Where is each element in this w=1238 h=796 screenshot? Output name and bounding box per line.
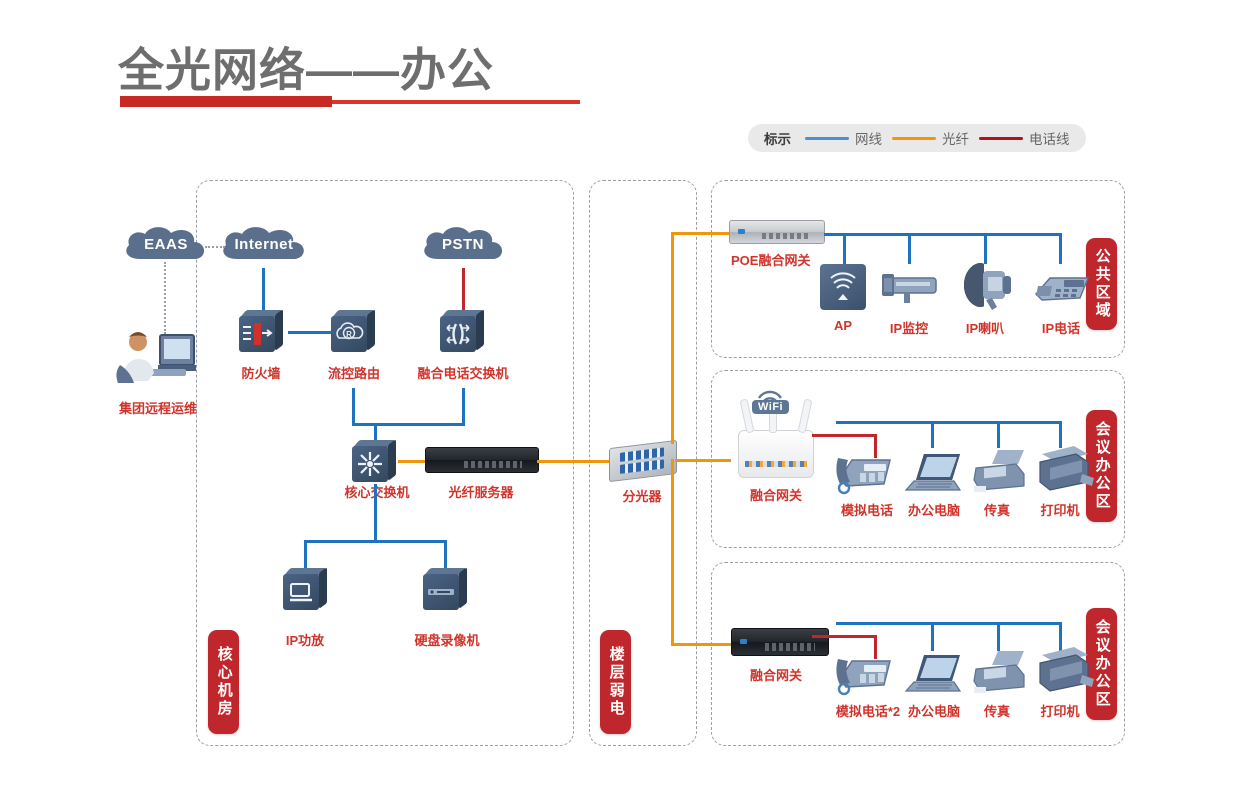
node-printer-1: [1030, 440, 1096, 496]
diagram-canvas: 全光网络——办公 标示 网线 光纤 电话线 核心机房 楼层弱电 公共区域 会议办…: [0, 0, 1238, 796]
legend-label-telephone: 电话线: [1029, 128, 1070, 148]
legend-item-fiber: 光纤: [892, 128, 969, 148]
node-nvr-label: 硬盘录像机: [404, 630, 490, 649]
link-router-bus: [352, 388, 355, 424]
node-fax-1: [968, 446, 1030, 496]
dvr-icon: [423, 574, 459, 610]
router-port-leds-icon: [745, 461, 807, 467]
node-ip-phone: [1030, 268, 1094, 310]
node-internet: Internet: [216, 225, 312, 267]
link-splitter-poe-gateway: [671, 232, 731, 235]
link-bus-ip-amp: [304, 540, 307, 570]
node-ip-camera: [878, 266, 942, 310]
link-poe-trunk: [824, 233, 1062, 236]
node-tel-switch-label: 融合电话交换机: [408, 363, 518, 382]
node-pc-1: [902, 448, 966, 496]
ip-speaker-icon: [956, 258, 1018, 312]
zone-badge-core-room: 核心机房: [208, 630, 239, 734]
switch-icon: [440, 316, 476, 352]
analog-phone-icon: [830, 649, 896, 697]
person-at-computer-icon: [112, 325, 202, 387]
switch-glyph-icon: [443, 321, 473, 347]
firewall-icon: [239, 316, 275, 352]
rack-ports-icon: [762, 233, 811, 239]
node-nvr: [423, 568, 467, 612]
link-eaas-remote-ops: [164, 262, 166, 334]
link-gw1-trunk: [836, 421, 1062, 424]
node-poe-gateway: [729, 220, 825, 244]
link-lower-bus: [304, 540, 446, 543]
node-analog-phone-2: [830, 649, 896, 697]
node-analog-phone-1-label: 模拟电话: [828, 500, 906, 519]
node-pstn-label: PSTN: [418, 225, 508, 267]
link-coreswitch-lower-bus: [374, 484, 377, 542]
wifi-waves-icon: [755, 386, 785, 402]
cube-side-face: [367, 309, 375, 351]
link-firewall-router: [288, 331, 332, 334]
svg-text:R: R: [346, 330, 352, 339]
link-poe-ap: [843, 233, 846, 264]
cube-side-face: [476, 309, 484, 351]
node-gateway-1: [738, 430, 814, 478]
node-ip-amplifier: [283, 568, 327, 612]
legend-swatch-network-icon: [805, 137, 849, 140]
firewall-glyph-icon: [241, 321, 273, 347]
laptop-icon: [902, 448, 966, 496]
legend-item-telephone: 电话线: [979, 128, 1070, 148]
legend-swatch-telephone-icon: [979, 137, 1023, 140]
node-gateway-1-label: 融合网关: [736, 485, 816, 504]
node-eaas-label: EAAS: [120, 225, 212, 267]
link-gw1-pc: [931, 421, 934, 448]
legend-title: 标示: [764, 128, 791, 148]
cube-side-face: [388, 439, 396, 481]
node-flow-router-label: 流控路由: [318, 363, 390, 382]
node-poe-gateway-label: POE融合网关: [731, 250, 827, 269]
link-gw1-phone-h: [812, 434, 876, 437]
ip-amplifier-icon: [283, 574, 319, 610]
node-gateway-2: [731, 628, 829, 656]
node-remote-ops-label: 集团远程运维: [105, 398, 211, 417]
node-printer-1-label: 打印机: [1028, 500, 1092, 519]
node-core-switch-label: 核心交换机: [335, 482, 419, 501]
node-ip-phone-label: IP电话: [1028, 318, 1094, 337]
node-analog-phone-1: [830, 448, 896, 496]
node-printer-2-label: 打印机: [1028, 701, 1092, 720]
node-fax-1-label: 传真: [972, 500, 1022, 519]
rack-led-icon: [738, 229, 745, 234]
zone-badge-floor: 楼层弱电: [600, 630, 631, 734]
link-internet-firewall: [262, 268, 265, 312]
link-gw2-pc: [931, 622, 934, 651]
rack-ports-icon: [464, 461, 522, 468]
legend: 标示 网线 光纤 电话线: [748, 124, 1086, 152]
wireless-ap-icon: [828, 272, 858, 302]
link-gw1-fax: [997, 421, 1000, 448]
link-splitter-down-riser: [671, 459, 674, 645]
link-upper-bus: [352, 423, 465, 426]
analog-phone-icon: [830, 448, 896, 496]
link-fiberserver-splitter: [537, 460, 610, 463]
link-splitter-gateway-1: [675, 459, 731, 462]
link-splitter-up-riser: [671, 234, 674, 444]
node-fax-2: [968, 647, 1030, 697]
rack-led-icon: [740, 639, 747, 644]
cube-side-face: [275, 309, 283, 351]
node-tel-switch: [440, 310, 484, 354]
node-optical-splitter-label: 分光器: [608, 486, 676, 505]
node-ip-speaker: [956, 258, 1018, 312]
link-poe-ipphone: [1059, 233, 1062, 264]
link-telswitch-bus: [462, 388, 465, 424]
ip-camera-icon: [878, 266, 942, 310]
link-gw2-phone-h: [812, 635, 876, 638]
node-eaas: EAAS: [120, 225, 212, 267]
link-poe-camera: [908, 233, 911, 264]
legend-label-fiber: 光纤: [942, 128, 969, 148]
node-firewall-label: 防火墙: [225, 363, 297, 382]
rack-ports-icon: [765, 643, 815, 650]
link-coreswitch-fiberserver: [398, 460, 426, 463]
printer-icon: [1030, 440, 1096, 496]
fax-icon: [968, 647, 1030, 697]
core-switch-icon: [352, 446, 388, 482]
node-ap: [820, 264, 866, 310]
node-ip-speaker-label: IP喇叭: [952, 318, 1018, 337]
node-fax-2-label: 传真: [972, 701, 1022, 720]
ip-amplifier-glyph-icon: [287, 580, 315, 604]
link-splitter-gateway-2: [671, 643, 731, 646]
link-eaas-internet: [205, 246, 225, 248]
cube-side-face: [319, 567, 327, 609]
node-pc-1-label: 办公电脑: [898, 500, 970, 519]
node-pc-2: [902, 649, 966, 697]
node-internet-label: Internet: [216, 225, 312, 267]
node-gateway-2-label: 融合网关: [736, 665, 816, 684]
node-pc-2-label: 办公电脑: [898, 701, 970, 720]
page-title: 全光网络——办公: [118, 34, 494, 100]
splitter-port-row-bottom-icon: [620, 459, 664, 473]
node-firewall: [239, 310, 283, 354]
node-ip-amplifier-label: IP功放: [274, 630, 336, 649]
laptop-icon: [902, 649, 966, 697]
node-fiber-server-label: 光纤服务器: [433, 482, 529, 501]
dvr-glyph-icon: [427, 586, 455, 598]
node-flow-router: R: [331, 310, 375, 354]
node-printer-2: [1030, 641, 1096, 697]
fax-icon: [968, 446, 1030, 496]
node-fiber-server: [425, 447, 539, 473]
link-gw2-trunk: [836, 622, 1062, 625]
router-glyph-icon: R: [334, 322, 364, 346]
node-ap-label: AP: [818, 318, 868, 333]
ip-phone-icon: [1030, 268, 1094, 310]
link-pstn-tel-switch: [462, 268, 465, 312]
legend-swatch-fiber-icon: [892, 137, 936, 140]
printer-icon: [1030, 641, 1096, 697]
node-remote-ops: [112, 325, 202, 387]
node-ip-camera-label: IP监控: [876, 318, 942, 337]
wifi-badge-icon: WiFi: [752, 400, 789, 414]
node-pstn: PSTN: [418, 225, 508, 267]
core-switch-glyph-icon: [355, 449, 385, 479]
link-bus-nvr: [444, 540, 447, 570]
legend-item-network: 网线: [805, 128, 882, 148]
title-underline-thick: [120, 96, 332, 107]
node-core-switch: [352, 440, 396, 484]
legend-label-network: 网线: [855, 128, 882, 148]
cube-side-face: [459, 567, 467, 609]
router-icon: R: [331, 316, 367, 352]
